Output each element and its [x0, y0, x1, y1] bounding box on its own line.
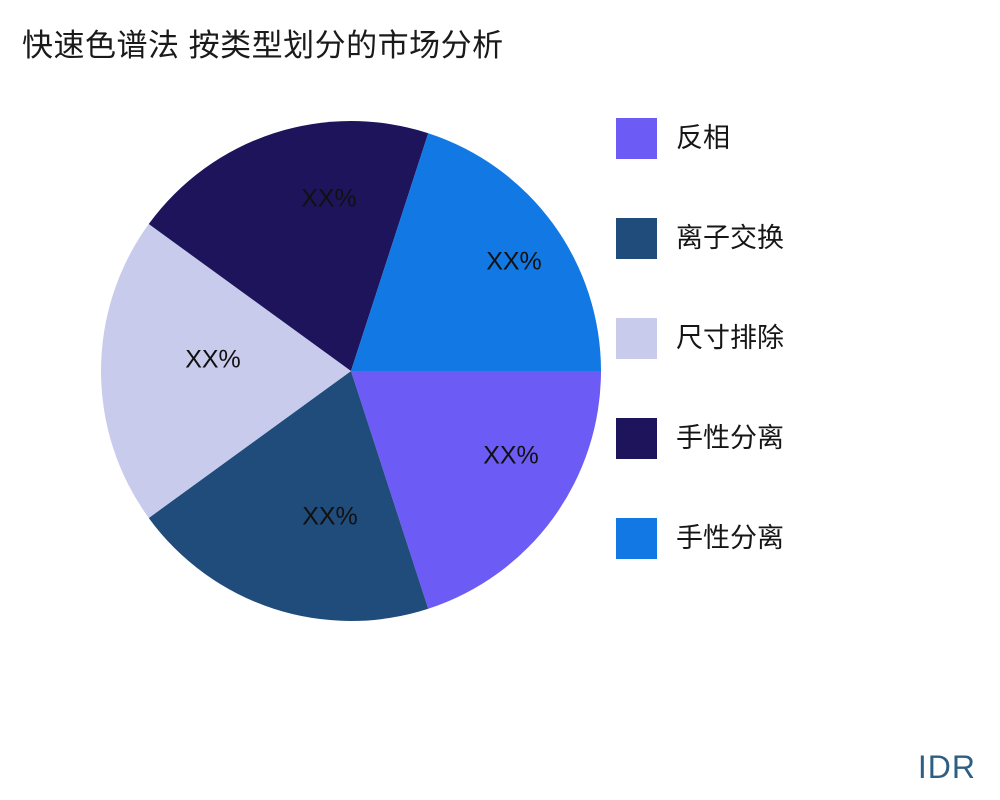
legend-item[interactable]: 手性分离	[616, 512, 946, 612]
legend-item[interactable]: 手性分离	[616, 412, 946, 512]
pie-chart-svg: XX%XX%XX%XX%XX%	[0, 0, 660, 700]
legend-swatch-icon	[616, 518, 657, 559]
legend-swatch-icon	[616, 318, 657, 359]
legend-swatch-icon	[616, 418, 657, 459]
legend-item-label: 尺寸排除	[676, 312, 784, 364]
pie-chart-plot-area: XX%XX%XX%XX%XX%	[0, 0, 660, 700]
pie-slice-label: XX%	[185, 346, 241, 374]
watermark-label: IDR	[918, 749, 976, 786]
legend-item[interactable]: 尺寸排除	[616, 312, 946, 412]
legend-swatch-icon	[616, 118, 657, 159]
legend-swatch-icon	[616, 218, 657, 259]
legend-item-label: 离子交换	[676, 212, 784, 264]
legend-item[interactable]: 离子交换	[616, 212, 946, 312]
chart-legend: 反相离子交换尺寸排除手性分离手性分离	[616, 112, 946, 612]
legend-item-label: 手性分离	[676, 412, 784, 464]
pie-slice-label: XX%	[483, 442, 539, 470]
pie-slice-label: XX%	[486, 248, 542, 276]
legend-item-label: 手性分离	[676, 512, 784, 564]
pie-slice-label: XX%	[302, 503, 358, 531]
chart-container: 快速色谱法 按类型划分的市场分析 XX%XX%XX%XX%XX% 反相离子交换尺…	[0, 0, 1000, 800]
pie-slice-label: XX%	[301, 185, 357, 213]
legend-item-label: 反相	[676, 112, 730, 164]
legend-item[interactable]: 反相	[616, 112, 946, 212]
